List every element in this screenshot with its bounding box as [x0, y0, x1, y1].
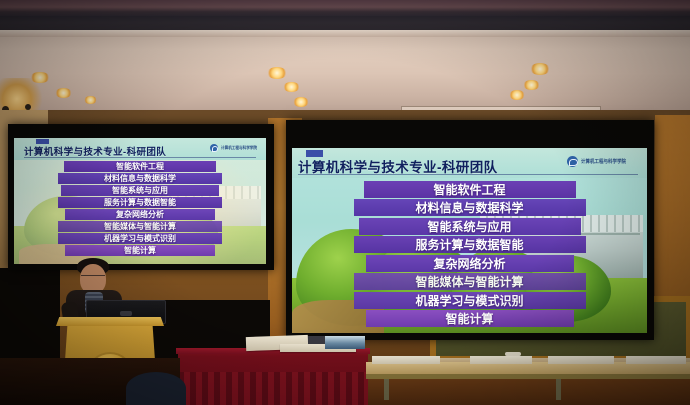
- left-slide-item-list: 智能软件工程 材料信息与数据科学 智能系统与应用 服务计算与数据智能 复杂网络分…: [14, 160, 266, 257]
- title-underline: [298, 174, 638, 175]
- list-item: 智能媒体与智能计算: [354, 273, 586, 290]
- list-item-label: 服务计算与数据智能: [415, 236, 523, 253]
- ceiling-light: [523, 80, 540, 90]
- ceiling-light: [267, 67, 287, 79]
- list-item-label: 机器学习与模式识别: [104, 233, 176, 244]
- list-item-label: 智能媒体与智能计算: [104, 221, 176, 232]
- list-item-label: 智能软件工程: [116, 161, 164, 172]
- ceiling-light: [30, 72, 50, 83]
- list-item-label: 智能系统与应用: [427, 218, 511, 235]
- list-item: 材料信息与数据科学: [58, 173, 222, 184]
- ceiling-light: [509, 90, 525, 100]
- glasses-icon: [81, 275, 105, 281]
- ceiling-light: [84, 96, 97, 104]
- left-dark-area: [0, 268, 60, 368]
- list-item-label: 材料信息与数据科学: [415, 199, 523, 216]
- list-item-label: 材料信息与数据科学: [104, 173, 176, 184]
- list-item-label: 服务计算与数据智能: [104, 197, 176, 208]
- documents: [470, 356, 532, 364]
- list-item: 智能计算: [366, 310, 574, 327]
- documents: [372, 356, 440, 364]
- right-slide-header: 计算机科学与技术专业-科研团队 计算机工程与科学学院: [292, 148, 647, 178]
- list-item: 材料信息与数据科学: [354, 199, 586, 216]
- institution-logo: 计算机工程与科学学院: [567, 156, 631, 167]
- left-slide: 计算机科学与技术专业-科研团队 计算机工程与科学学院 智能软件工程 材料信息与数…: [14, 138, 266, 264]
- list-item-label: 智能软件工程: [433, 181, 505, 198]
- institution-logo-label: 计算机工程与科学学院: [581, 158, 626, 165]
- right-slide-item-list: 智能软件工程 材料信息与数据科学 智能系统与应用 服务计算与数据智能 复杂网络分…: [292, 179, 647, 329]
- documents: [626, 356, 686, 364]
- list-item-label: 智能媒体与智能计算: [415, 273, 523, 290]
- list-item: 智能计算: [65, 245, 215, 256]
- list-item-label: 复杂网络分析: [433, 255, 505, 272]
- left-slide-header: 计算机科学与技术专业-科研团队 计算机工程与科学学院: [14, 138, 266, 160]
- institution-logo-label: 计算机工程与科学学院: [221, 145, 257, 151]
- ceiling: [0, 0, 690, 118]
- table-leg: [384, 376, 389, 400]
- ceiling-light: [293, 97, 309, 107]
- book-stack: [325, 336, 365, 349]
- list-item: 智能系统与应用: [359, 218, 581, 235]
- documents: [548, 356, 614, 364]
- right-slide: 计算机科学与技术专业-科研团队 计算机工程与科学学院 智能软件工程 材料信息与数…: [292, 148, 647, 333]
- ceiling-light: [55, 88, 72, 98]
- list-item-label: 智能计算: [124, 245, 156, 256]
- table-leg: [556, 376, 561, 400]
- ceiling-light: [283, 82, 300, 92]
- list-item: 智能软件工程: [364, 181, 576, 198]
- list-item: 服务计算与数据智能: [354, 236, 586, 253]
- list-item: 智能媒体与智能计算: [58, 221, 222, 232]
- list-item: 智能系统与应用: [61, 185, 219, 196]
- list-item: 复杂网络分析: [65, 209, 215, 220]
- list-item: 智能软件工程: [64, 161, 216, 172]
- audience-silhouette: [126, 372, 186, 405]
- ceiling-lip: [0, 30, 690, 37]
- list-item: 机器学习与模式识别: [354, 292, 586, 309]
- right-slide-title: 计算机科学与技术专业-科研团队: [298, 156, 498, 176]
- long-table-edge: [366, 374, 690, 379]
- university-logo-icon: [210, 144, 218, 152]
- table-skirt: [178, 372, 368, 405]
- lecture-hall-photo: 计算机科学与技术专业-科研团队 计算机工程与科学学院 智能软件工程 材料信息与数…: [0, 0, 690, 405]
- title-underline: [24, 157, 256, 158]
- ceiling-light: [530, 63, 550, 75]
- left-slide-title: 计算机科学与技术专业-科研团队: [24, 144, 166, 158]
- university-logo-icon: [567, 156, 578, 167]
- list-item-label: 智能计算: [445, 310, 493, 327]
- list-item-label: 智能系统与应用: [112, 185, 168, 196]
- list-item-label: 机器学习与模式识别: [415, 292, 523, 309]
- list-item: 服务计算与数据智能: [58, 197, 222, 208]
- list-item: 机器学习与模式识别: [58, 233, 222, 244]
- list-item: 复杂网络分析: [366, 255, 574, 272]
- ceiling-dark-band: [0, 16, 690, 30]
- podium-surface: [56, 317, 164, 326]
- institution-logo: 计算机工程与科学学院: [210, 144, 261, 152]
- floor: [366, 379, 690, 405]
- list-item-label: 复杂网络分析: [116, 209, 164, 220]
